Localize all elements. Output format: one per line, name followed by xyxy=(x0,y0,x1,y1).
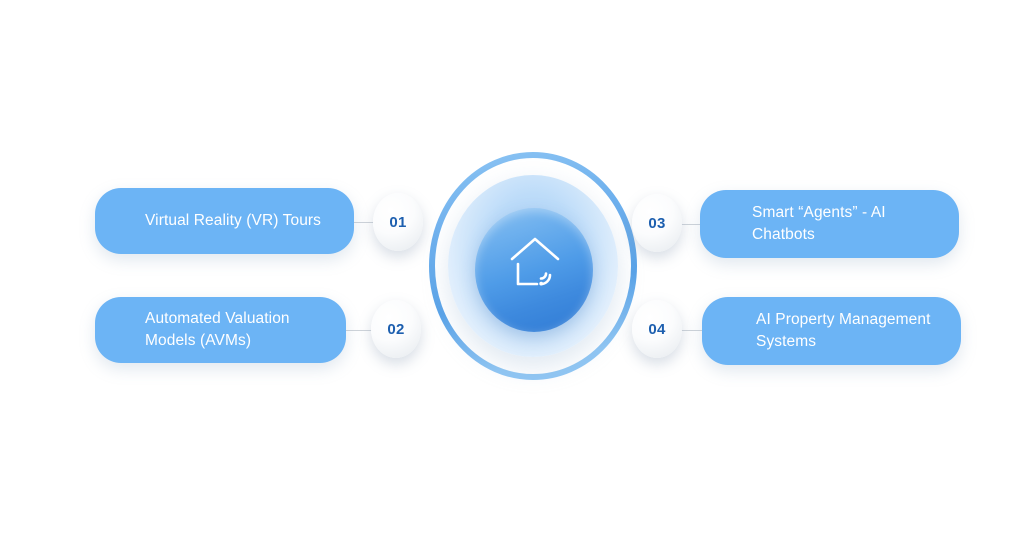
label-box-03-text: Smart “Agents” - AI Chatbots xyxy=(724,202,935,246)
step-badge-04-number: 04 xyxy=(648,321,665,338)
step-badge-01-number: 01 xyxy=(389,214,406,231)
label-box-04[interactable]: AI Property Management Systems xyxy=(702,297,961,365)
step-badge-02-number: 02 xyxy=(387,321,404,338)
infographic-canvas: 01 02 03 04 Virtual Reality (VR) Tours A… xyxy=(0,0,1024,544)
label-box-04-text: AI Property Management Systems xyxy=(726,309,937,353)
label-box-02-text: Automated Valuation Models (AVMs) xyxy=(119,308,322,352)
step-badge-03-number: 03 xyxy=(648,215,665,232)
step-badge-01[interactable]: 01 xyxy=(373,193,423,251)
label-box-01[interactable]: Virtual Reality (VR) Tours xyxy=(95,188,354,254)
smart-home-wifi-icon xyxy=(506,234,566,296)
step-badge-02[interactable]: 02 xyxy=(371,300,421,358)
label-box-02[interactable]: Automated Valuation Models (AVMs) xyxy=(95,297,346,363)
step-badge-03[interactable]: 03 xyxy=(632,194,682,252)
label-box-01-text: Virtual Reality (VR) Tours xyxy=(119,210,330,232)
step-badge-04[interactable]: 04 xyxy=(632,300,682,358)
center-graphic xyxy=(415,130,651,402)
label-box-03[interactable]: Smart “Agents” - AI Chatbots xyxy=(700,190,959,258)
